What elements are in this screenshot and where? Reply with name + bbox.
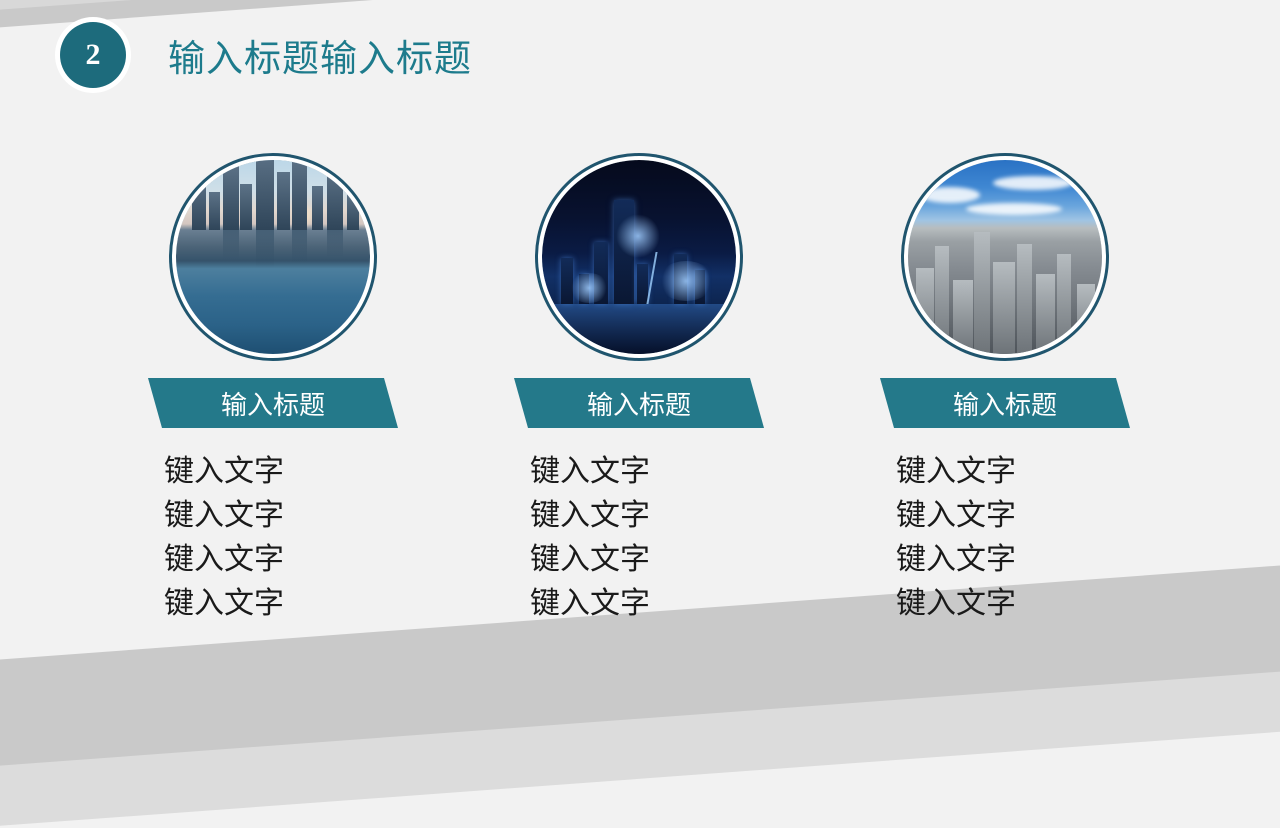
building-shape: [256, 160, 274, 230]
light-glow: [658, 261, 714, 301]
top-diagonal-ribbon-thin: [0, 0, 1280, 14]
building-shape: [1017, 244, 1032, 354]
column-banner-1: 输入标题: [162, 378, 384, 428]
city-skyline-night-photo: [542, 160, 736, 354]
building-shape: [993, 262, 1015, 354]
building-shape: [1036, 274, 1055, 354]
content-column-2: 输入标题 键入文字 键入文字 键入文字 键入文字: [456, 160, 822, 626]
page-title: 输入标题输入标题: [168, 28, 472, 82]
building-shape: [935, 246, 949, 354]
water-reflection: [223, 230, 239, 260]
building-shape: [223, 164, 239, 230]
content-column-3: 输入标题 键入文字 键入文字 键入文字 键入文字: [822, 160, 1188, 626]
building-shape: [327, 168, 343, 230]
light-glow: [616, 214, 660, 258]
content-columns: 输入标题 键入文字 键入文字 键入文字 键入文字: [0, 160, 1280, 626]
text-line: 键入文字: [896, 538, 1116, 582]
water-reflection: [256, 230, 274, 268]
content-column-1: 输入标题 键入文字 键入文字 键入文字 键入文字: [90, 160, 456, 626]
slide-header: 2 输入标题输入标题: [60, 20, 472, 90]
text-line: 键入文字: [530, 450, 750, 494]
text-line: 键入文字: [896, 582, 1116, 626]
text-line: 键入文字: [164, 450, 384, 494]
building-shape: [240, 184, 252, 230]
text-line: 键入文字: [530, 582, 750, 626]
text-line: 键入文字: [164, 538, 384, 582]
building-shape: [916, 268, 934, 354]
building-shape: [209, 192, 220, 230]
text-line: 键入文字: [530, 494, 750, 538]
water-reflection: [292, 230, 307, 264]
building-shape: [277, 172, 290, 230]
circle-photo-frame-3: [908, 160, 1102, 354]
circle-photo-frame-1: [176, 160, 370, 354]
waterfront-city-daytime-photo: [176, 160, 370, 354]
column-text-2: 键入文字 键入文字 键入文字 键入文字: [528, 450, 750, 626]
building-shape: [312, 186, 323, 230]
water-reflection: [542, 304, 736, 354]
text-line: 键入文字: [896, 494, 1116, 538]
building-shape: [347, 194, 359, 230]
text-line: 键入文字: [896, 450, 1116, 494]
text-line: 键入文字: [164, 582, 384, 626]
column-banner-3: 输入标题: [894, 378, 1116, 428]
cloud-shape: [966, 203, 1062, 215]
building-shape: [1057, 254, 1071, 354]
building-shape: [974, 232, 990, 354]
light-glow: [569, 273, 609, 303]
circle-photo-frame-2: [542, 160, 736, 354]
text-line: 键入文字: [530, 538, 750, 582]
building-shape: [1077, 284, 1095, 354]
building-shape: [292, 160, 307, 230]
building-shape: [953, 280, 973, 354]
column-text-1: 键入文字 键入文字 键入文字 键入文字: [162, 450, 384, 626]
building-shape: [192, 178, 206, 230]
text-line: 键入文字: [164, 494, 384, 538]
cloud-shape: [993, 176, 1073, 190]
column-text-3: 键入文字 键入文字 键入文字 键入文字: [894, 450, 1116, 626]
cloud-shape: [920, 187, 980, 203]
column-banner-2: 输入标题: [528, 378, 750, 428]
city-aerial-bluesky-photo: [908, 160, 1102, 354]
water-reflection: [327, 230, 343, 258]
section-number-badge: 2: [60, 22, 126, 88]
bottom-diagonal-ribbon-thin: [0, 664, 1280, 828]
